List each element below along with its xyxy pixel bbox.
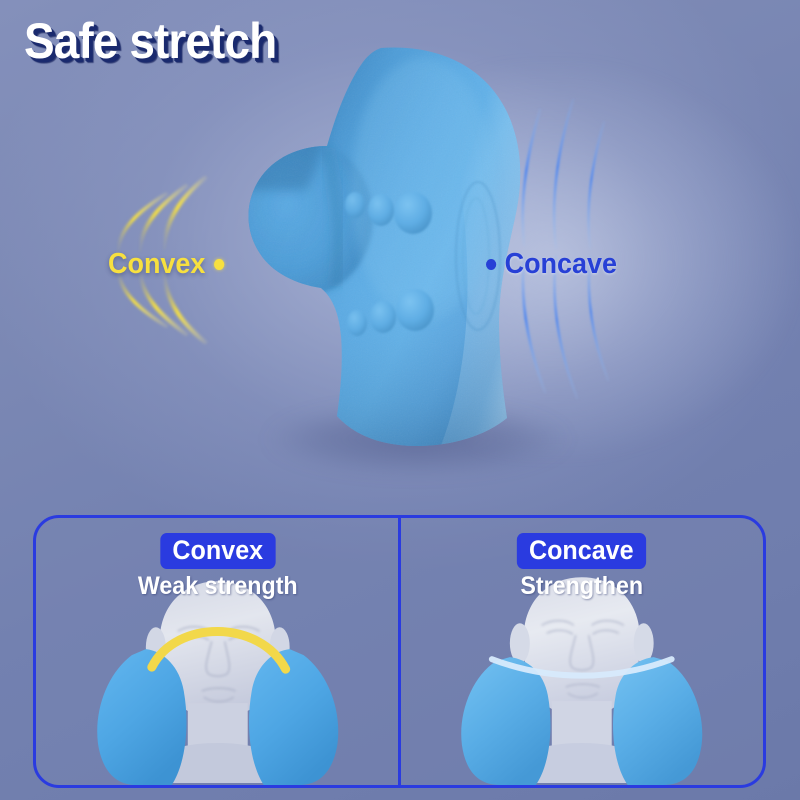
- panel-divider: [398, 518, 401, 785]
- figure-concave: [400, 575, 764, 785]
- panel-convex-heading: Convex Weak strength: [36, 533, 400, 601]
- panel-concave-subtitle: Strengthen: [412, 573, 750, 601]
- panel-concave-badge: Concave: [517, 533, 646, 569]
- yellow-dot-icon: [214, 259, 224, 270]
- panel-concave-heading: Concave Strengthen: [400, 533, 764, 601]
- panel-convex-subtitle: Weak strength: [49, 573, 387, 601]
- callout-convex-label: Convex: [108, 248, 205, 281]
- blue-dot-icon: [486, 259, 496, 270]
- figure-convex: [36, 575, 400, 785]
- panel-convex-badge: Convex: [160, 533, 275, 569]
- callout-concave: Concave: [486, 248, 617, 281]
- callout-convex: Convex: [108, 248, 224, 281]
- product-infographic: Safe stretch: [0, 0, 800, 800]
- comparison-frame: Convex Weak strength: [33, 515, 766, 788]
- panel-concave: Concave Strengthen: [400, 518, 764, 785]
- hero-section: Convex Concave: [0, 0, 800, 500]
- callout-concave-label: Concave: [505, 248, 617, 281]
- panel-convex: Convex Weak strength: [36, 518, 400, 785]
